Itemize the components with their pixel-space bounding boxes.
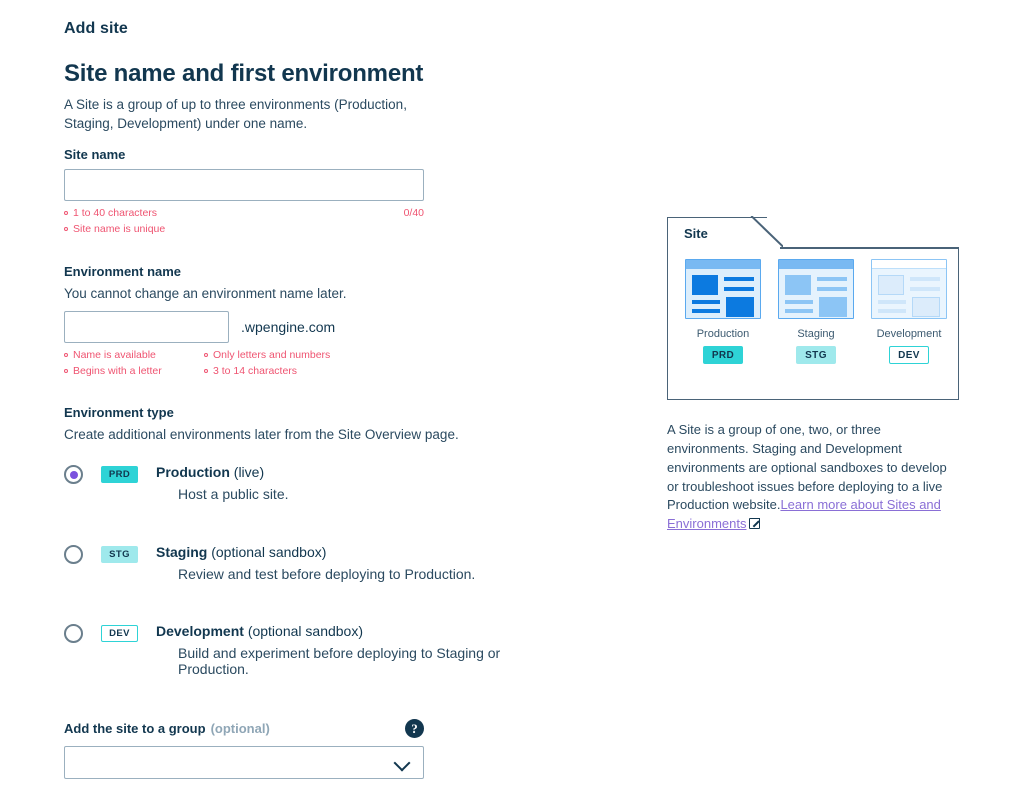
- folder-tab-label: Site: [684, 226, 708, 241]
- environment-name-validation: Name is available Begins with a letter O…: [64, 348, 424, 380]
- option-name: Staging: [156, 544, 207, 560]
- card-caption: Production: [685, 328, 761, 340]
- group-select[interactable]: [64, 746, 424, 779]
- environment-cards: Production PRD: [685, 259, 947, 364]
- environment-name-row: .wpengine.com: [64, 311, 564, 343]
- environment-option-production[interactable]: PRD Production (live) Host a public site…: [64, 464, 564, 502]
- validation-text: Only letters and numbers: [213, 348, 330, 364]
- card-caption: Development: [871, 328, 947, 340]
- option-description: Host a public site.: [178, 486, 289, 502]
- option-qualifier: (live): [234, 464, 264, 480]
- validation-item: Begins with a letter: [64, 364, 204, 380]
- environment-option-staging[interactable]: STG Staging (optional sandbox) Review an…: [64, 544, 564, 582]
- environment-name-label: Environment name: [64, 264, 564, 279]
- card-badge-dev: DEV: [889, 346, 929, 364]
- site-name-label: Site name: [64, 147, 564, 162]
- illustration-description-block: A Site is a group of one, two, or three …: [667, 421, 959, 534]
- bullet-icon: [64, 369, 68, 373]
- option-description: Review and test before deploying to Prod…: [178, 566, 475, 582]
- option-qualifier: (optional sandbox): [248, 623, 363, 639]
- group-optional-tag: (optional): [211, 721, 270, 736]
- option-name: Development: [156, 623, 244, 639]
- validation-text: Name is available: [73, 348, 156, 364]
- option-description: Build and experiment before deploying to…: [178, 645, 564, 677]
- option-name: Production: [156, 464, 230, 480]
- external-link-icon: [749, 518, 760, 529]
- validation-text: Site name is unique: [73, 222, 165, 238]
- bullet-icon: [204, 369, 208, 373]
- character-counter: 0/40: [404, 206, 424, 238]
- option-title: Development (optional sandbox): [156, 623, 363, 639]
- radio-production[interactable]: [64, 465, 83, 484]
- group-select-box[interactable]: [64, 746, 424, 779]
- radio-development[interactable]: [64, 624, 83, 643]
- bullet-icon: [64, 211, 68, 215]
- option-title: Staging (optional sandbox): [156, 544, 326, 560]
- group-header: Add the site to a group (optional) ?: [64, 719, 424, 738]
- bullet-icon: [204, 353, 208, 357]
- validation-text: 3 to 14 characters: [213, 364, 297, 380]
- site-illustration-panel: Site: [667, 217, 959, 534]
- illustration-card-production: Production PRD: [685, 259, 761, 364]
- illustration-card-development: Development DEV: [871, 259, 947, 364]
- card-badge-stg: STG: [796, 346, 836, 364]
- folder-body-top-edge: [780, 247, 959, 249]
- domain-suffix: .wpengine.com: [241, 319, 335, 335]
- breadcrumb: Add site: [64, 20, 564, 38]
- folder-tab-diagonal: [749, 216, 783, 249]
- site-name-validation: 1 to 40 characters Site name is unique 0…: [64, 206, 424, 238]
- validation-item: 1 to 40 characters: [64, 206, 404, 222]
- environment-type-label: Environment type: [64, 405, 564, 420]
- illustration-card-staging: Staging STG: [778, 259, 854, 364]
- browser-mock-staging: [778, 259, 854, 319]
- browser-mock-production: [685, 259, 761, 319]
- page-intro: A Site is a group of up to three environ…: [64, 96, 434, 133]
- add-site-page: Add site Site name and first environment…: [0, 0, 1024, 794]
- validation-item: 3 to 14 characters: [204, 364, 330, 380]
- environment-name-hint: You cannot change an environment name la…: [64, 286, 564, 301]
- badge-dev: DEV: [101, 625, 138, 642]
- option-qualifier: (optional sandbox): [211, 544, 326, 560]
- page-title: Site name and first environment: [64, 60, 564, 88]
- validation-item: Site name is unique: [64, 222, 404, 238]
- radio-staging[interactable]: [64, 545, 83, 564]
- validation-item: Only letters and numbers: [204, 348, 330, 364]
- bullet-icon: [64, 353, 68, 357]
- card-badge-prd: PRD: [703, 346, 743, 364]
- badge-stg: STG: [101, 546, 138, 563]
- browser-mock-development: [871, 259, 947, 319]
- folder-diagram: Site: [667, 217, 959, 400]
- help-icon[interactable]: ?: [405, 719, 424, 738]
- site-name-input[interactable]: [64, 169, 424, 201]
- environment-name-input[interactable]: [64, 311, 229, 343]
- validation-text: 1 to 40 characters: [73, 206, 157, 222]
- bullet-icon: [64, 227, 68, 231]
- group-label: Add the site to a group: [64, 721, 206, 736]
- validation-text: Begins with a letter: [73, 364, 162, 380]
- validation-item: Name is available: [64, 348, 204, 364]
- add-site-form: Add site Site name and first environment…: [64, 20, 564, 794]
- badge-prd: PRD: [101, 466, 138, 483]
- card-caption: Staging: [778, 328, 854, 340]
- environment-type-hint: Create additional environments later fro…: [64, 427, 564, 442]
- environment-option-development[interactable]: DEV Development (optional sandbox) Build…: [64, 623, 564, 677]
- option-title: Production (live): [156, 464, 264, 480]
